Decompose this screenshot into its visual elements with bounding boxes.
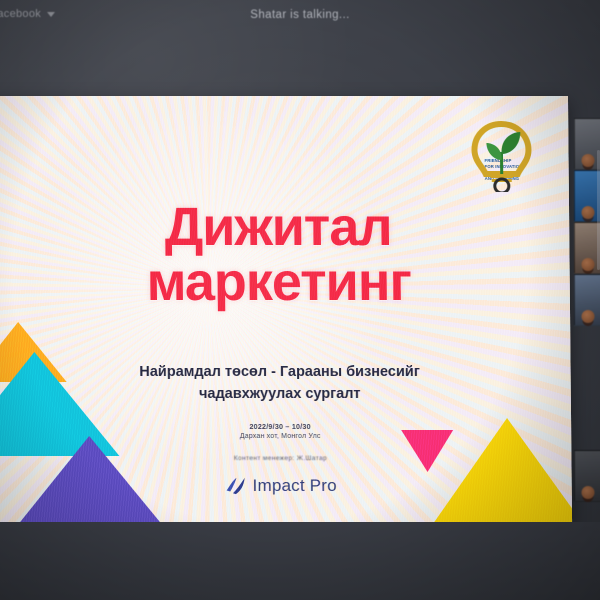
shared-screen-stage[interactable]: FRIENDSHIP FOR INNOVATION PROSPERITY AND…: [0, 96, 572, 524]
impact-pro-logo: Impact Pro: [0, 476, 572, 496]
bottom-pane: [0, 522, 600, 600]
avatar: [582, 258, 595, 271]
presentation-slide: FRIENDSHIP FOR INNOVATION PROSPERITY AND…: [0, 96, 572, 524]
slide-subtitle-line-2: чадавхжуулах сургалт: [43, 384, 517, 406]
impact-pro-label: Impact Pro: [252, 476, 336, 496]
slide-title: Дижитал маркетинг: [0, 200, 570, 310]
slide-location: Дархан хот, Монгол Улс: [0, 433, 571, 440]
avatar: [582, 310, 595, 323]
slide-title-line-1: Дижитал: [164, 197, 392, 257]
slide-title-line-2: маркетинг: [0, 255, 570, 310]
avatar: [582, 154, 595, 167]
impact-pro-swoosh-icon: [224, 476, 246, 496]
participant-thumbnail-4[interactable]: [574, 274, 600, 326]
slide-subtitle-line-1: Найрамдал төсөл - Гарааны бизнесийг: [139, 364, 420, 380]
slide-date-range: 2022/9/30 – 10/30: [0, 422, 571, 431]
avatar: [582, 206, 595, 219]
slide-subtitle: Найрамдал төсөл - Гарааны бизнесийг чада…: [42, 362, 516, 405]
participant-filmstrip[interactable]: [574, 30, 600, 570]
top-bar: facebook Shatar is talking...: [0, 0, 600, 44]
video-call-screen: facebook Shatar is talking...: [0, 0, 600, 600]
participant-thumbnail-5[interactable]: [574, 450, 600, 502]
slide-credit: Контент менежер: Ж.Шатар: [0, 455, 571, 462]
lightbulb-leaf-icon: [460, 118, 543, 192]
speaker-status: Shatar is talking...: [0, 9, 600, 21]
avatar: [582, 486, 595, 499]
